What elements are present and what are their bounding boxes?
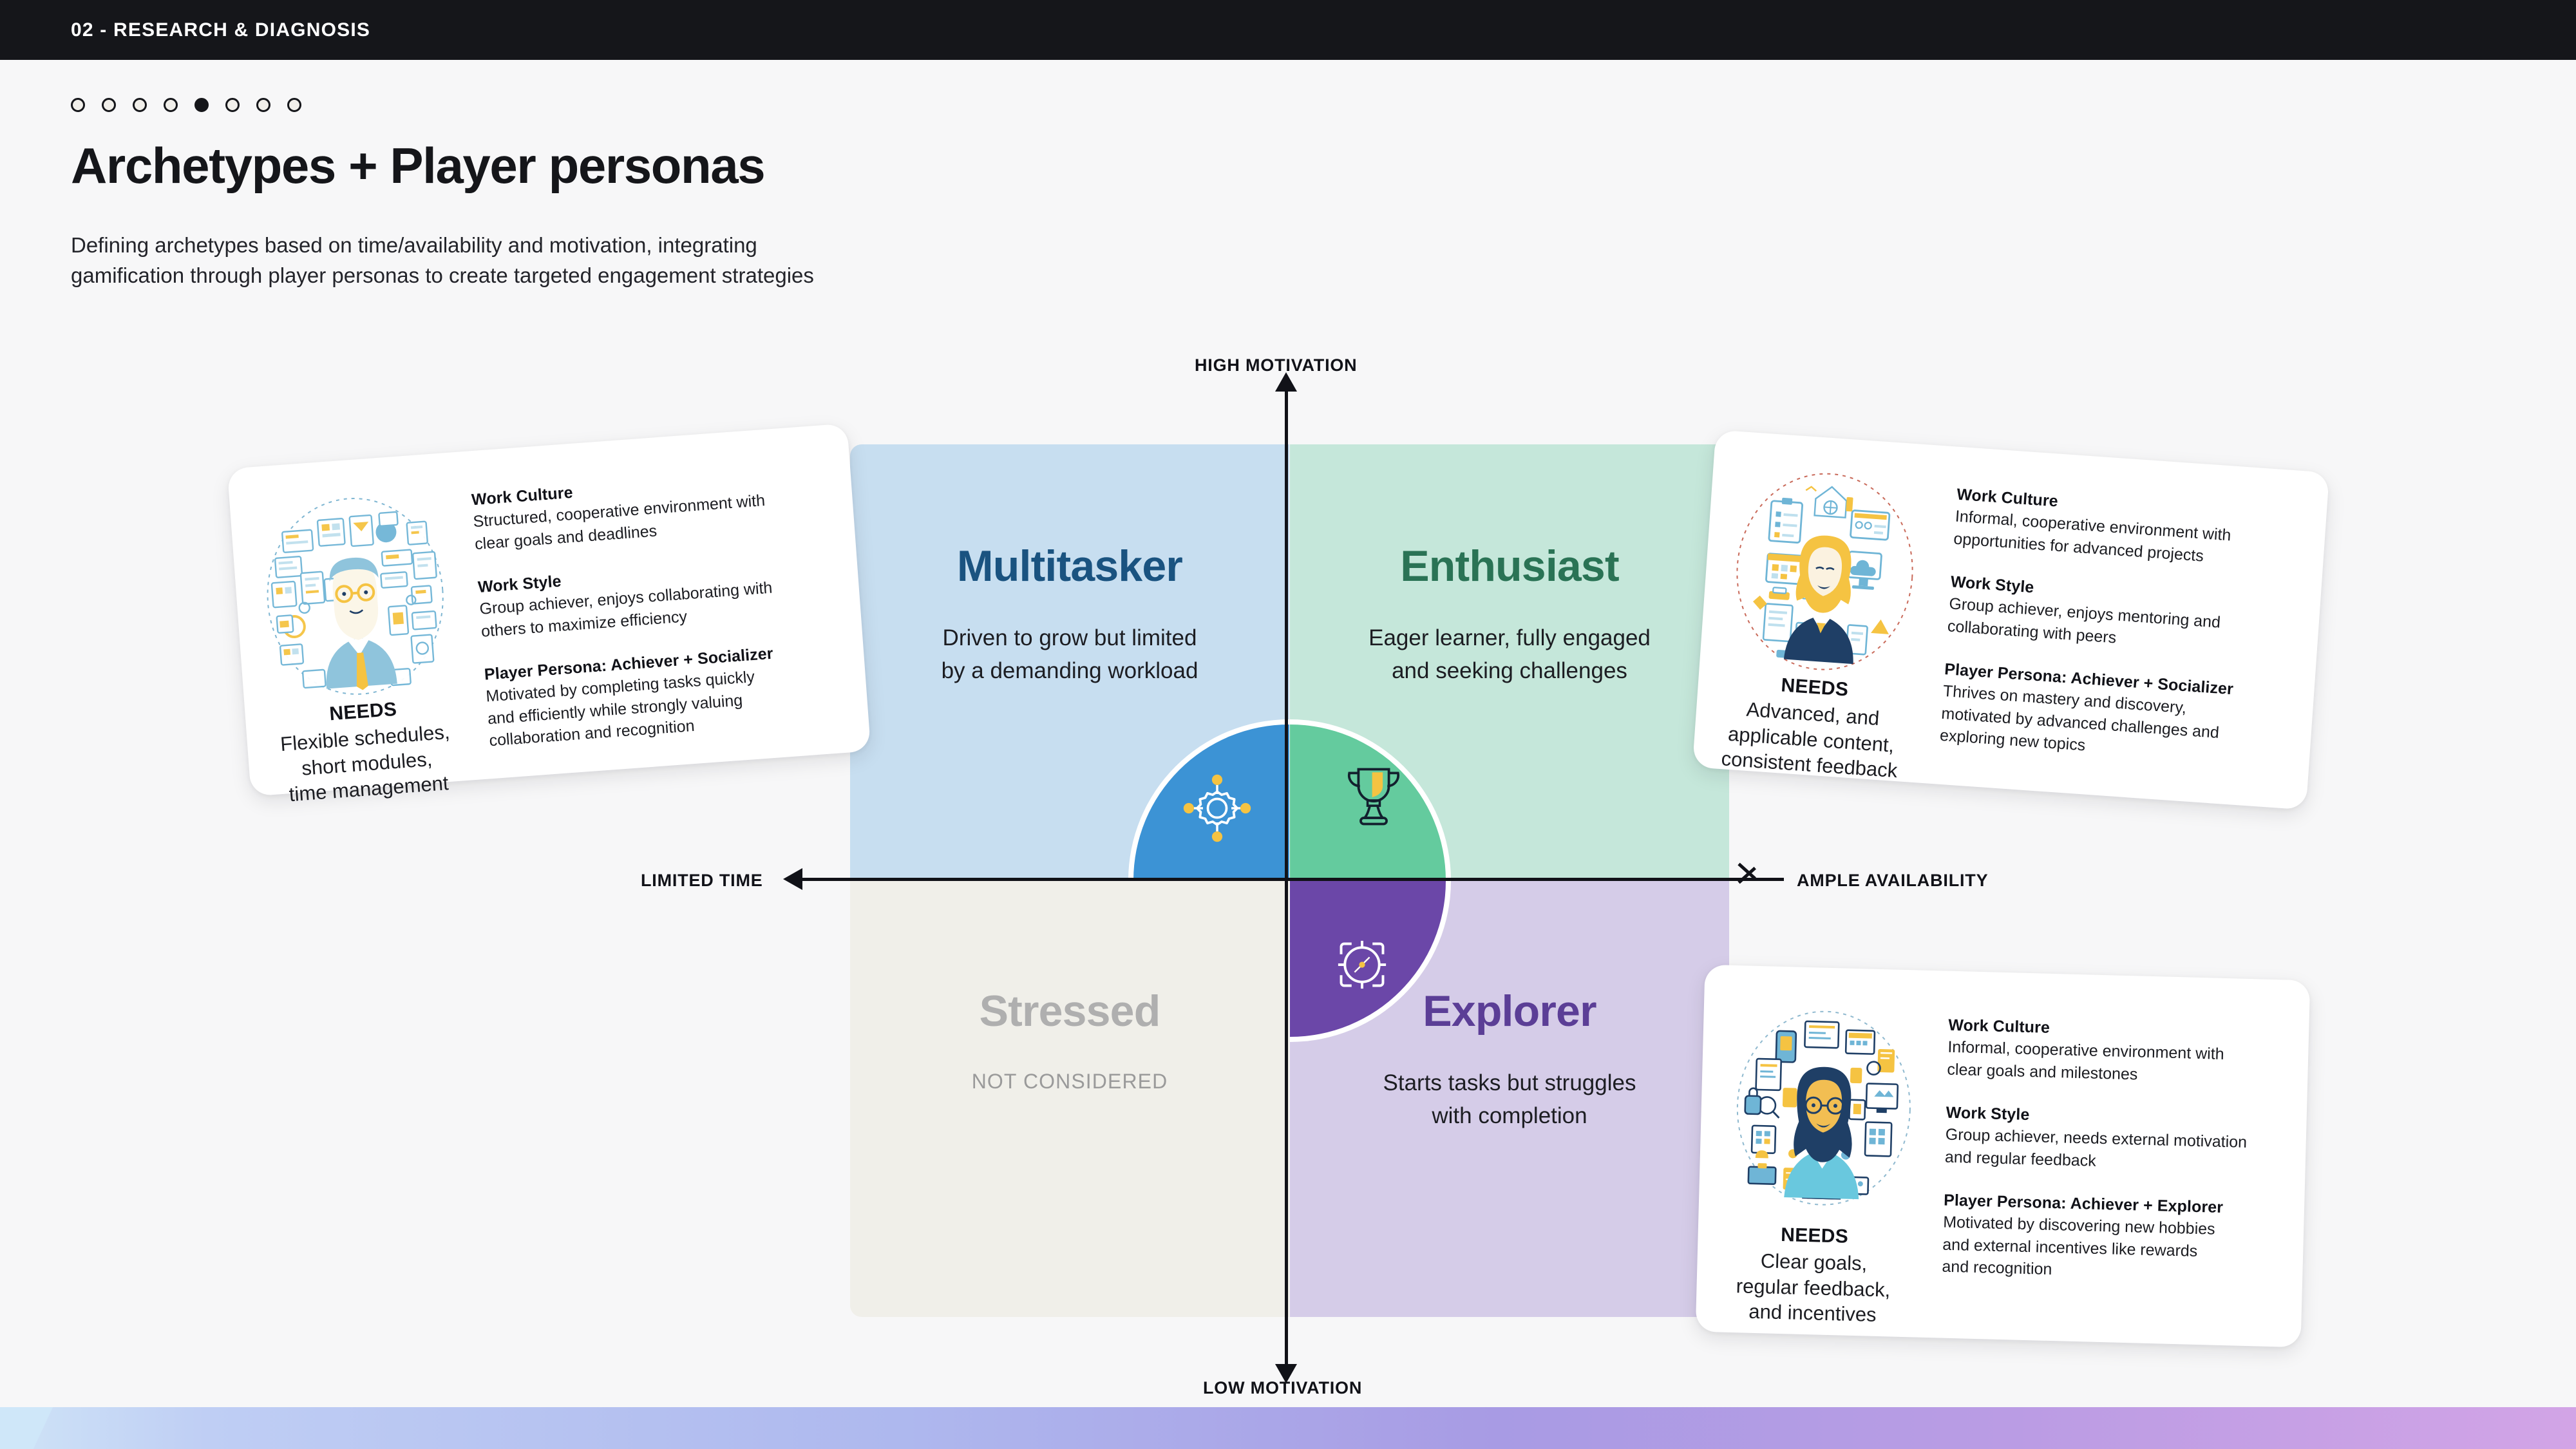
needs-body: Advanced, and applicable content, consis… [1703, 694, 1920, 785]
pagination-dot-4[interactable] [164, 98, 178, 112]
pagination-dot-1[interactable] [71, 98, 85, 112]
axis-arrow-left-icon [783, 868, 802, 890]
pagination-dot-5-active[interactable] [194, 98, 209, 112]
axis-label-low-motivation: LOW MOTIVATION [1203, 1378, 1362, 1398]
quadrant-description-multitasker: Driven to grow but limited by a demandin… [850, 621, 1289, 688]
needs-body: Clear goals, regular feedback, and incen… [1706, 1247, 1920, 1329]
bottom-gradient-bar [0, 1407, 2576, 1449]
needs-body: Flexible schedules, short modules, time … [258, 717, 476, 810]
axis-label-limited-time: LIMITED TIME [641, 871, 763, 891]
player-persona-text: Motivated by discovering new hobbies and… [1942, 1211, 2285, 1287]
axis-label-ample-availability: AMPLE AVAILABILITY [1797, 871, 1988, 891]
quadrant-description-explorer: Starts tasks but struggles with completi… [1290, 1066, 1729, 1133]
quadrant-explorer[interactable]: Explorer Starts tasks but struggles with… [1290, 881, 1729, 1317]
persona-needs-enthusiast: NEEDS Advanced, and applicable content, … [1703, 670, 1922, 786]
pagination-dot-2[interactable] [102, 98, 116, 112]
persona-details-explorer: Work Culture Informal, cooperative envir… [1942, 1016, 2289, 1287]
persona-needs-multitasker: NEEDS Flexible schedules, short modules,… [256, 694, 476, 810]
man-with-glasses-and-tie-illustration [251, 486, 459, 706]
persona-details-multitasker: Work Culture Structured, cooperative env… [471, 466, 837, 752]
compass-icon [1325, 916, 1411, 1002]
axis-label-high-motivation: HIGH MOTIVATION [1195, 355, 1357, 375]
pagination-dot-8[interactable] [287, 98, 301, 112]
motivation-axis-line [1285, 384, 1288, 1370]
persona-needs-explorer: NEEDS Clear goals, regular feedback, and… [1706, 1222, 1921, 1329]
work-style-text: Group achiever, needs external motivatio… [1944, 1124, 2287, 1177]
top-section-bar: 02 - RESEARCH & DIAGNOSIS [0, 0, 2576, 60]
slide-canvas: 02 - RESEARCH & DIAGNOSIS Archetypes + P… [0, 0, 2576, 1449]
persona-card-multitasker[interactable]: NEEDS Flexible schedules, short modules,… [227, 423, 871, 796]
quadrant-title-enthusiast: Enthusiast [1290, 541, 1729, 591]
pagination-dot-7[interactable] [256, 98, 270, 112]
quadrant-enthusiast[interactable]: Enthusiast Eager learner, fully engaged … [1290, 444, 1729, 880]
persona-details-enthusiast: Work Culture Informal, cooperative envir… [1939, 486, 2304, 771]
pagination-dot-3[interactable] [133, 98, 147, 112]
blonde-woman-illustration [1721, 462, 1929, 681]
badge-multitasker [1128, 719, 1289, 880]
badge-enthusiast [1290, 719, 1451, 880]
page-title: Archetypes + Player personas [71, 137, 764, 195]
slide-pagination[interactable] [71, 98, 301, 112]
quadrant-stressed[interactable]: Stressed NOT CONSIDERED [850, 881, 1289, 1317]
persona-card-enthusiast[interactable]: NEEDS Advanced, and applicable content, … [1692, 430, 2329, 810]
quadrant-title-stressed: Stressed [850, 986, 1289, 1036]
quadrant-description-enthusiast: Eager learner, fully engaged and seeking… [1290, 621, 1729, 688]
network-gear-icon [1168, 759, 1255, 846]
work-culture-text: Informal, cooperative environment with c… [1947, 1036, 2289, 1090]
needs-title: NEEDS [1708, 1222, 1921, 1250]
badge-explorer [1290, 881, 1451, 1042]
persona-card-explorer[interactable]: NEEDS Clear goals, regular feedback, and… [1696, 965, 2311, 1347]
dark-haired-woman-with-glasses-illustration [1725, 1003, 1923, 1214]
section-label: 02 - RESEARCH & DIAGNOSIS [71, 19, 370, 41]
pagination-dot-6[interactable] [225, 98, 240, 112]
quadrant-multitasker[interactable]: Multitasker Driven to grow but limited b… [850, 444, 1289, 880]
quadrant-title-multitasker: Multitasker [850, 541, 1289, 591]
trophy-icon [1324, 759, 1412, 846]
time-availability-axis-line [795, 878, 1784, 881]
page-subtitle: Defining archetypes based on time/availa… [71, 231, 814, 291]
quadrant-description-stressed: NOT CONSIDERED [850, 1066, 1289, 1097]
